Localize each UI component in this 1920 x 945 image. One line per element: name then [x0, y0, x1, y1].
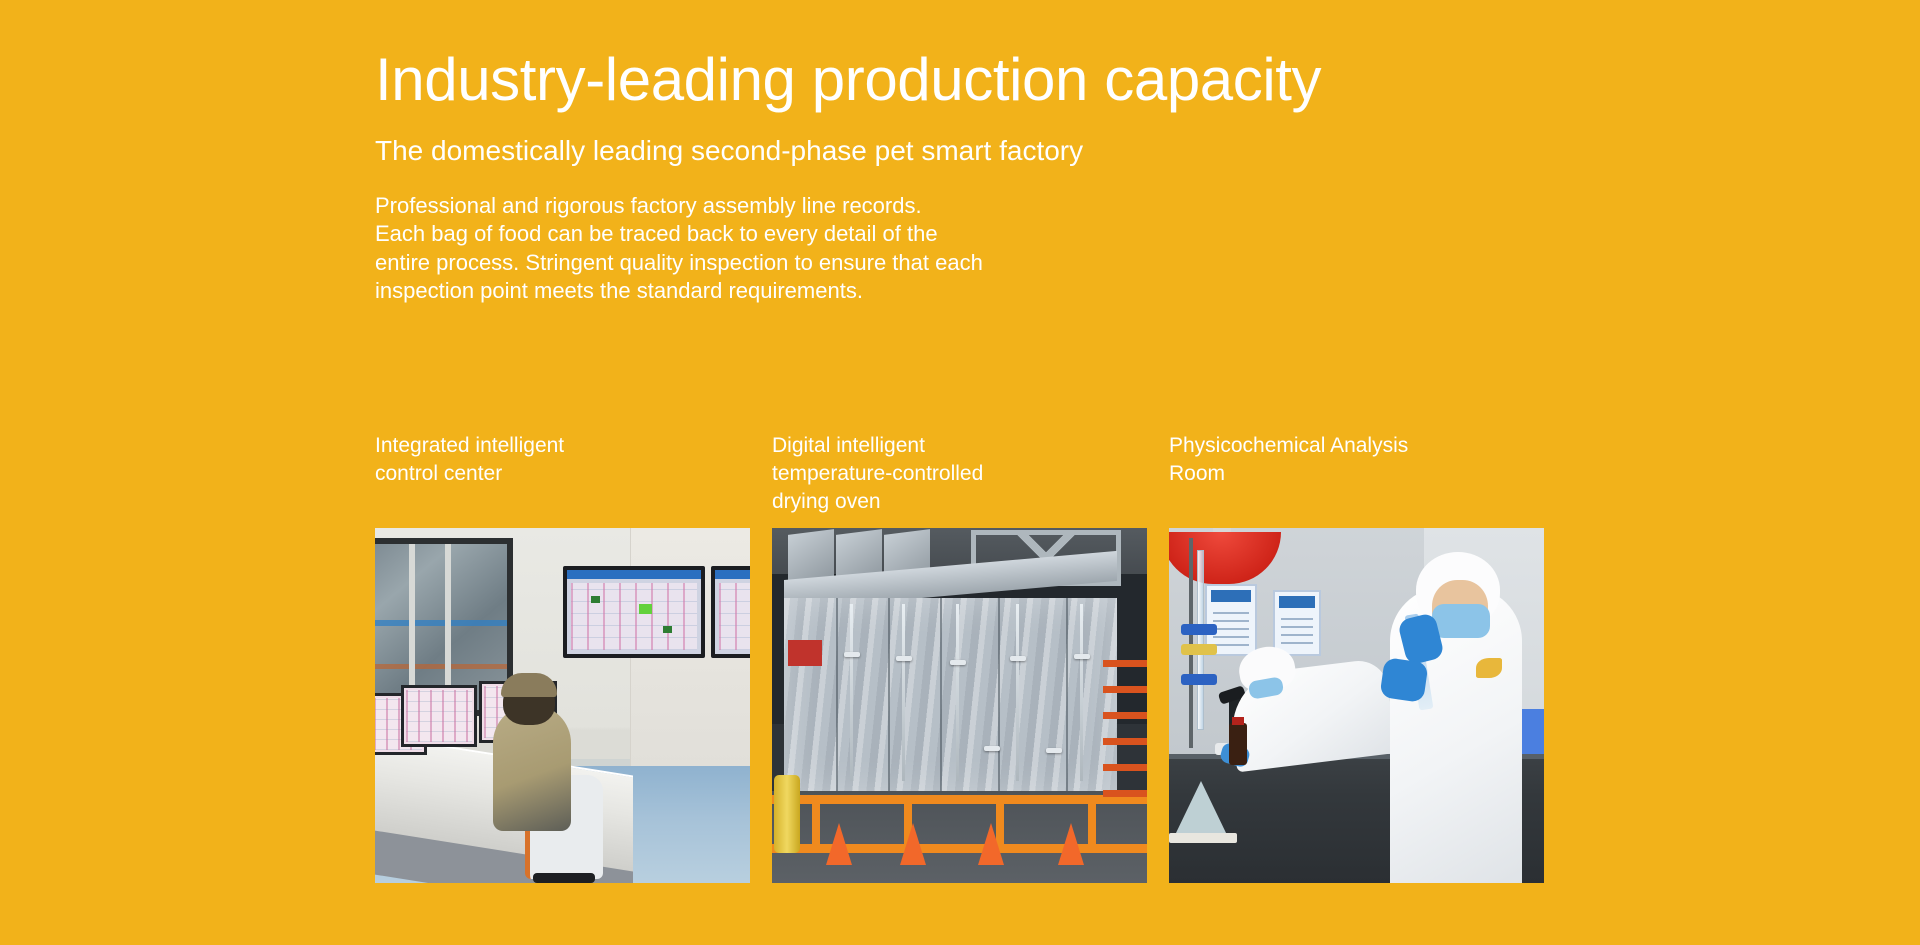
page-title: Industry-leading production capacity — [375, 48, 1545, 112]
gallery-item-control-center: Integrated intelligent control center — [375, 432, 750, 883]
slide-root: Industry-leading production capacity The… — [0, 0, 1920, 945]
laboratory-illustration — [1169, 528, 1544, 883]
door-handle — [844, 652, 860, 657]
body-line-4: inspection point meets the standard requ… — [375, 277, 1545, 305]
control-box — [788, 640, 822, 666]
text-block: Industry-leading production capacity The… — [375, 0, 1545, 305]
poster-text-line — [1281, 618, 1313, 620]
reagent-bottle — [1229, 723, 1247, 765]
poster-text-line — [1213, 612, 1249, 614]
door-latch-rod — [956, 604, 959, 781]
safety-cone — [900, 823, 926, 865]
figure-gallery: Integrated intelligent control center — [375, 432, 1545, 883]
caption-line: Digital intelligent — [772, 432, 1147, 460]
oven-body — [784, 598, 1117, 795]
wall-display-left — [563, 566, 705, 658]
monitor-screen — [406, 690, 472, 742]
display-schematic — [571, 583, 697, 650]
gallery-item-analysis-room: Physicochemical Analysis Room — [1169, 432, 1544, 883]
status-indicator — [663, 626, 672, 633]
door-handle — [1010, 656, 1026, 661]
caption-line: control center — [375, 460, 750, 488]
status-indicator — [591, 596, 600, 603]
poster-text-line — [1213, 620, 1249, 622]
door-latch-rod — [850, 604, 853, 781]
drying-oven-illustration — [772, 528, 1147, 883]
blue-glove — [1379, 657, 1428, 703]
control-room-illustration — [375, 528, 750, 883]
oven-door-seam — [836, 598, 838, 795]
safety-cone — [826, 823, 852, 865]
desk-monitor — [401, 685, 477, 747]
body-line-2: Each bag of food can be traced back to e… — [375, 220, 1545, 248]
display-header-bar — [715, 570, 750, 579]
door-handle — [950, 660, 966, 665]
door-handle — [984, 746, 1000, 751]
door-latch-rod — [902, 604, 905, 781]
window-blue-stripe — [375, 620, 507, 626]
control-center-photo — [375, 528, 750, 883]
safety-cone — [978, 823, 1004, 865]
red-lamp-shade-icon — [1169, 532, 1281, 584]
caption-line: drying oven — [772, 488, 1147, 516]
door-handle — [896, 656, 912, 661]
wall-poster — [1273, 590, 1321, 656]
burette-clamp — [1181, 624, 1217, 635]
oven-door-seam — [888, 598, 890, 795]
poster-text-line — [1281, 634, 1313, 636]
door-latch-rod — [1080, 604, 1083, 781]
display-schematic — [719, 583, 750, 650]
figure-caption-control-center: Integrated intelligent control center — [375, 432, 750, 528]
burette-clamp — [1181, 674, 1217, 685]
poster-text-line — [1281, 626, 1313, 628]
burette — [1197, 550, 1204, 730]
poster-text-line — [1213, 636, 1249, 638]
erlenmeyer-flask — [1175, 781, 1227, 835]
chair-base — [533, 873, 595, 883]
bottle-cap — [1232, 717, 1244, 725]
oven-door-seam — [940, 598, 942, 795]
yellow-pipe — [774, 775, 800, 853]
figure-caption-analysis-room: Physicochemical Analysis Room — [1169, 432, 1544, 528]
right-side-scaffold — [1103, 648, 1147, 797]
wall-display-right — [711, 566, 750, 658]
poster-header — [1211, 590, 1251, 602]
body-line-3: entire process. Stringent quality inspec… — [375, 249, 1545, 277]
door-latch-rod — [1016, 604, 1019, 781]
caption-line: Integrated intelligent — [375, 432, 750, 460]
caption-line: Room — [1169, 460, 1544, 488]
flask-stand — [1169, 833, 1237, 843]
body-line-1: Professional and rigorous factory assemb… — [375, 192, 1545, 220]
display-header-bar — [567, 570, 701, 579]
body-copy: Professional and rigorous factory assemb… — [375, 192, 1545, 305]
retort-stand-rod — [1189, 538, 1193, 748]
oven-door-seam — [998, 598, 1000, 795]
railing-post — [812, 795, 820, 853]
caption-line: temperature-controlled — [772, 460, 1147, 488]
railing-post — [1088, 795, 1096, 853]
figure-caption-drying-oven: Digital intelligent temperature-controll… — [772, 432, 1147, 528]
gallery-item-drying-oven: Digital intelligent temperature-controll… — [772, 432, 1147, 883]
drying-oven-photo — [772, 528, 1147, 883]
face-mask — [1432, 604, 1490, 638]
analysis-room-photo — [1169, 528, 1544, 883]
poster-text-line — [1281, 642, 1313, 644]
door-handle — [1046, 748, 1062, 753]
poster-text-line — [1213, 644, 1249, 646]
page-subtitle: The domestically leading second-phase pe… — [375, 134, 1545, 168]
safety-cone — [1058, 823, 1084, 865]
caption-line: Physicochemical Analysis — [1169, 432, 1544, 460]
uniform-logo — [1476, 658, 1502, 678]
door-handle — [1074, 654, 1090, 659]
poster-header — [1279, 596, 1315, 608]
poster-text-line — [1213, 628, 1249, 630]
window-rail — [375, 664, 507, 669]
oven-door-seam — [1066, 598, 1068, 795]
operator-cap — [501, 673, 557, 697]
status-indicator — [639, 604, 652, 614]
burette-clamp — [1181, 644, 1217, 655]
